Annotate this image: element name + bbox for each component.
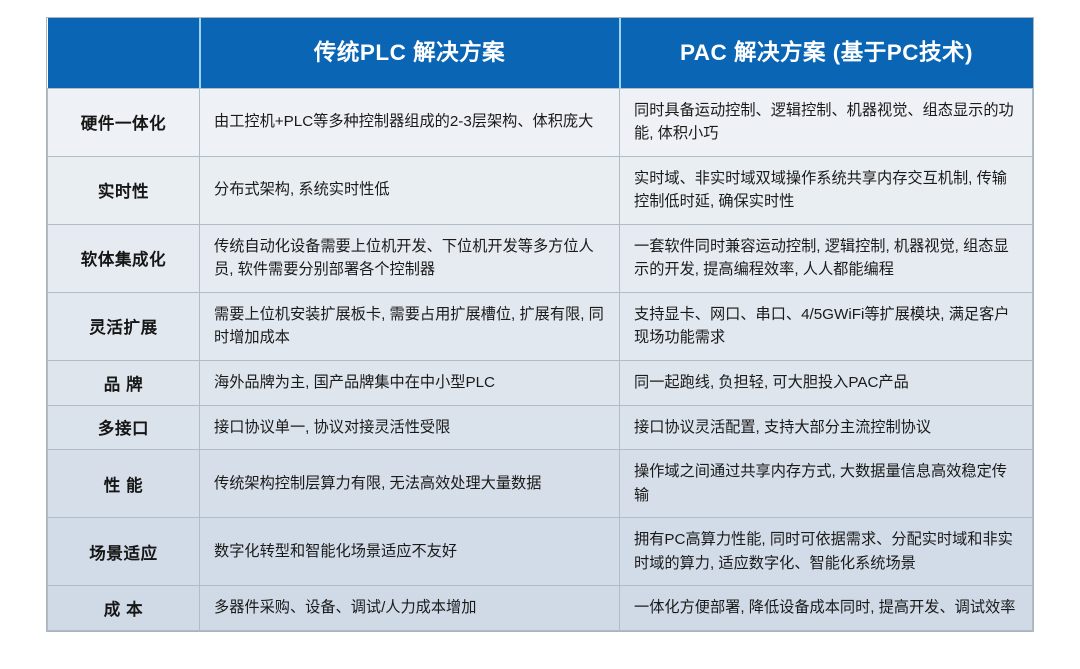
row-plc-cell: 传统自动化设备需要上位机开发、下位机开发等多方位人员, 软件需要分别部署各个控制… <box>200 224 620 292</box>
feature-text: 多接口 <box>54 415 193 439</box>
plc-text: 分布式架构, 系统实时性低 <box>214 178 605 202</box>
plc-text: 多器件采购、设备、调试/人力成本增加 <box>214 596 605 620</box>
pac-text: 一体化方便部署, 降低设备成本同时, 提高开发、调试效率 <box>634 596 1018 620</box>
header-cell-plc: 传统PLC 解决方案 <box>200 18 620 88</box>
feature-text: 硬件一体化 <box>54 110 193 134</box>
plc-text: 传统架构控制层算力有限, 无法高效处理大量数据 <box>214 472 605 496</box>
header-pac-title: PAC 解决方案 (基于PC技术) <box>635 39 1019 67</box>
row-feature-label: 多接口 <box>48 405 200 450</box>
plc-text: 海外品牌为主, 国产品牌集中在中小型PLC <box>214 371 605 395</box>
plc-pac-comparison-table: 传统PLC 解决方案 PAC 解决方案 (基于PC技术) 硬件一体化 由工控机+… <box>47 18 1033 631</box>
pac-text: 拥有PC高算力性能, 同时可依据需求、分配实时域和非实时域的算力, 适应数字化、… <box>634 528 1018 575</box>
header-row: 传统PLC 解决方案 PAC 解决方案 (基于PC技术) <box>48 18 1033 88</box>
header-cell-pac: PAC 解决方案 (基于PC技术) <box>620 18 1033 88</box>
feature-text: 软体集成化 <box>54 246 193 270</box>
row-pac-cell: 同时具备运动控制、逻辑控制、机器视觉、组态显示的功能, 体积小巧 <box>620 88 1033 156</box>
table-header: 传统PLC 解决方案 PAC 解决方案 (基于PC技术) <box>48 18 1033 88</box>
table-row: 性 能 传统架构控制层算力有限, 无法高效处理大量数据 操作域之间通过共享内存方… <box>48 450 1033 518</box>
row-feature-label: 场景适应 <box>48 518 200 586</box>
row-pac-cell: 一体化方便部署, 降低设备成本同时, 提高开发、调试效率 <box>620 586 1033 631</box>
pac-text: 操作域之间通过共享内存方式, 大数据量信息高效稳定传输 <box>634 460 1018 507</box>
table-row: 多接口 接口协议单一, 协议对接灵活性受限 接口协议灵活配置, 支持大部分主流控… <box>48 405 1033 450</box>
row-plc-cell: 由工控机+PLC等多种控制器组成的2-3层架构、体积庞大 <box>200 88 620 156</box>
row-feature-label: 成 本 <box>48 586 200 631</box>
pac-text: 一套软件同时兼容运动控制, 逻辑控制, 机器视觉, 组态显示的开发, 提高编程效… <box>634 235 1018 282</box>
plc-text: 需要上位机安装扩展板卡, 需要占用扩展槽位, 扩展有限, 同时增加成本 <box>214 303 605 350</box>
row-plc-cell: 分布式架构, 系统实时性低 <box>200 156 620 224</box>
pac-text: 同一起跑线, 负担轻, 可大胆投入PAC产品 <box>634 371 1018 395</box>
feature-text: 实时性 <box>54 178 193 202</box>
header-cell-blank <box>48 18 200 88</box>
feature-text: 品 牌 <box>54 371 193 395</box>
row-pac-cell: 同一起跑线, 负担轻, 可大胆投入PAC产品 <box>620 361 1033 406</box>
row-feature-label: 品 牌 <box>48 361 200 406</box>
pac-text: 同时具备运动控制、逻辑控制、机器视觉、组态显示的功能, 体积小巧 <box>634 99 1018 146</box>
plc-text: 由工控机+PLC等多种控制器组成的2-3层架构、体积庞大 <box>214 110 605 134</box>
row-plc-cell: 需要上位机安装扩展板卡, 需要占用扩展槽位, 扩展有限, 同时增加成本 <box>200 292 620 360</box>
row-feature-label: 硬件一体化 <box>48 88 200 156</box>
plc-text: 接口协议单一, 协议对接灵活性受限 <box>214 416 605 440</box>
feature-text: 成 本 <box>54 596 193 620</box>
row-feature-label: 实时性 <box>48 156 200 224</box>
row-feature-label: 性 能 <box>48 450 200 518</box>
table-row: 实时性 分布式架构, 系统实时性低 实时域、非实时域双域操作系统共享内存交互机制… <box>48 156 1033 224</box>
page-root: 传统PLC 解决方案 PAC 解决方案 (基于PC技术) 硬件一体化 由工控机+… <box>0 0 1080 669</box>
row-plc-cell: 多器件采购、设备、调试/人力成本增加 <box>200 586 620 631</box>
row-plc-cell: 数字化转型和智能化场景适应不友好 <box>200 518 620 586</box>
row-pac-cell: 支持显卡、网口、串口、4/5GWiFi等扩展模块, 满足客户现场功能需求 <box>620 292 1033 360</box>
table-row: 场景适应 数字化转型和智能化场景适应不友好 拥有PC高算力性能, 同时可依据需求… <box>48 518 1033 586</box>
header-plc-title: 传统PLC 解决方案 <box>215 39 605 67</box>
feature-text: 性 能 <box>54 472 193 496</box>
table-body: 硬件一体化 由工控机+PLC等多种控制器组成的2-3层架构、体积庞大 同时具备运… <box>48 88 1033 630</box>
plc-text: 数字化转型和智能化场景适应不友好 <box>214 540 605 564</box>
pac-text: 实时域、非实时域双域操作系统共享内存交互机制, 传输控制低时延, 确保实时性 <box>634 167 1018 214</box>
table-row: 软体集成化 传统自动化设备需要上位机开发、下位机开发等多方位人员, 软件需要分别… <box>48 224 1033 292</box>
pac-text: 支持显卡、网口、串口、4/5GWiFi等扩展模块, 满足客户现场功能需求 <box>634 303 1018 350</box>
row-plc-cell: 海外品牌为主, 国产品牌集中在中小型PLC <box>200 361 620 406</box>
plc-text: 传统自动化设备需要上位机开发、下位机开发等多方位人员, 软件需要分别部署各个控制… <box>214 235 605 282</box>
row-feature-label: 灵活扩展 <box>48 292 200 360</box>
feature-text: 灵活扩展 <box>54 314 193 338</box>
row-plc-cell: 接口协议单一, 协议对接灵活性受限 <box>200 405 620 450</box>
row-pac-cell: 拥有PC高算力性能, 同时可依据需求、分配实时域和非实时域的算力, 适应数字化、… <box>620 518 1033 586</box>
row-pac-cell: 一套软件同时兼容运动控制, 逻辑控制, 机器视觉, 组态显示的开发, 提高编程效… <box>620 224 1033 292</box>
row-pac-cell: 接口协议灵活配置, 支持大部分主流控制协议 <box>620 405 1033 450</box>
row-pac-cell: 实时域、非实时域双域操作系统共享内存交互机制, 传输控制低时延, 确保实时性 <box>620 156 1033 224</box>
row-plc-cell: 传统架构控制层算力有限, 无法高效处理大量数据 <box>200 450 620 518</box>
table-row: 硬件一体化 由工控机+PLC等多种控制器组成的2-3层架构、体积庞大 同时具备运… <box>48 88 1033 156</box>
table-row: 灵活扩展 需要上位机安装扩展板卡, 需要占用扩展槽位, 扩展有限, 同时增加成本… <box>48 292 1033 360</box>
row-pac-cell: 操作域之间通过共享内存方式, 大数据量信息高效稳定传输 <box>620 450 1033 518</box>
table-row: 成 本 多器件采购、设备、调试/人力成本增加 一体化方便部署, 降低设备成本同时… <box>48 586 1033 631</box>
feature-text: 场景适应 <box>54 540 193 564</box>
pac-text: 接口协议灵活配置, 支持大部分主流控制协议 <box>634 416 1018 440</box>
table-row: 品 牌 海外品牌为主, 国产品牌集中在中小型PLC 同一起跑线, 负担轻, 可大… <box>48 361 1033 406</box>
row-feature-label: 软体集成化 <box>48 224 200 292</box>
